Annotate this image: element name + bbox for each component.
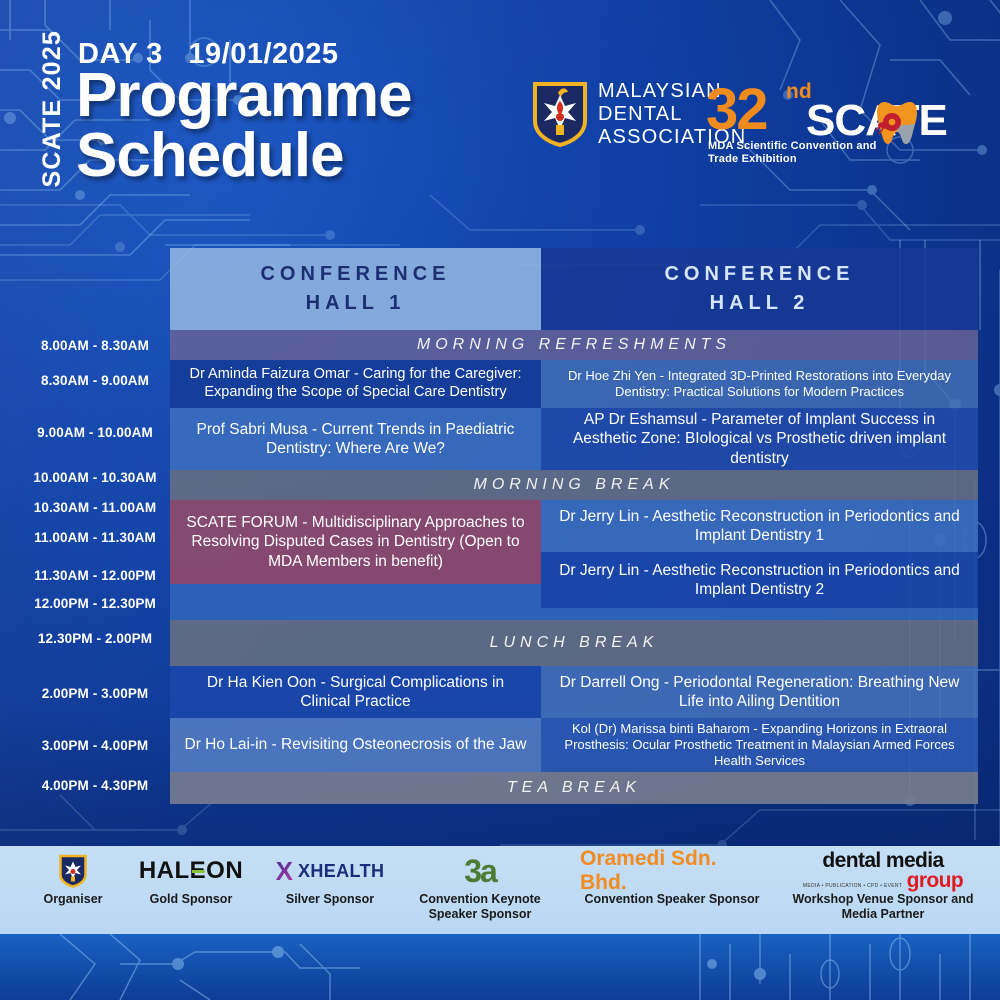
sponsor-silver: X XHEALTH Silver Sponsor [271, 846, 389, 934]
page-title: Programme Schedule [76, 66, 412, 186]
session-hall1-1400: Dr Ha Kien Oon - Surgical Complications … [170, 666, 541, 718]
dental-media-group-logo: dental media MEDIA • PUBLICATION • CPD •… [803, 854, 963, 888]
oramedi-logo: Oramedi Sdn. Bhd. [580, 854, 764, 888]
page-title-line2: Schedule [76, 126, 412, 186]
xhealth-x-icon: X [276, 856, 293, 887]
session-hall2-0830: Dr Hoe Zhi Yen - Integrated 3D-Printed R… [541, 360, 978, 408]
time-slot-10: 2.00PM - 3.00PM [20, 686, 170, 701]
xhealth-logo: X XHEALTH [276, 854, 385, 888]
session-hall1-0830: Dr Aminda Faizura Omar - Caring for the … [170, 360, 541, 408]
sponsor-gold: HALEON Gold Sponsor [132, 846, 250, 934]
time-slot-3: 9.00AM - 10.00AM [20, 425, 170, 440]
session-hall2-1030: Dr Jerry Lin - Aesthetic Reconstruction … [541, 500, 978, 552]
scate-subtitle-line2: Trade Exhibition [708, 153, 877, 166]
threea-logo: 3a [464, 854, 496, 888]
time-slot-1: 8.00AM - 8.30AM [20, 338, 170, 353]
time-slot-12: 4.00PM - 4.30PM [20, 778, 170, 793]
xhealth-wordmark: XHEALTH [298, 861, 384, 882]
session-hall2-1130: Dr Jerry Lin - Aesthetic Reconstruction … [541, 552, 978, 608]
tooth-hibiscus-icon [874, 96, 920, 148]
sponsor-caption-gold: Gold Sponsor [150, 892, 233, 907]
time-slot-6: 11.00AM - 11.30AM [20, 530, 170, 545]
page-title-line1: Programme [76, 66, 412, 126]
time-slot-8: 12.00PM - 12.30PM [20, 596, 170, 611]
bottom-decorative-strip [0, 934, 1000, 1000]
oramedi-wordmark: Oramedi Sdn. Bhd. [580, 847, 764, 895]
sponsor-convention-keynote: 3a Convention Keynote Speaker Sponsor [416, 846, 544, 934]
haleon-wordmark: HALEON [139, 857, 243, 885]
session-hall1-empty [170, 584, 541, 620]
column-header-conference-hall-1: CONFERENCE HALL 1 [170, 248, 541, 330]
band-morning-refreshments: MORNING REFRESHMENTS [170, 330, 978, 360]
scate-subtitle-line1: MDA Scientific Convention and [708, 140, 877, 153]
time-slot-2: 8.30AM - 9.00AM [20, 373, 170, 388]
session-hall2-empty [541, 608, 978, 620]
time-slot-5: 10.30AM - 11.00AM [20, 500, 170, 515]
sponsor-bar: Organiser HALEON Gold Sponsor X XHEALTH … [0, 846, 1000, 934]
session-hall2-0900: AP Dr Eshamsul - Parameter of Implant Su… [541, 408, 978, 470]
sponsor-workshop-venue: dental media MEDIA • PUBLICATION • CPD •… [790, 846, 976, 934]
scate-edition-number: 32 [706, 76, 767, 143]
band-lunch-break: LUNCH BREAK [170, 620, 978, 666]
hall1-header-line1: CONFERENCE [260, 260, 450, 289]
time-slot-7: 11.30AM - 12.00PM [20, 568, 170, 583]
session-hall1-1500: Dr Ho Lai-in - Revisiting Osteonecrosis … [170, 718, 541, 772]
programme-schedule-table: CONFERENCE HALL 1 CONFERENCE HALL 2 8.00… [0, 248, 1000, 808]
dmg-tagline: MEDIA • PUBLICATION • CPD • EVENT [803, 883, 902, 889]
sponsor-caption-keynote: Convention Keynote Speaker Sponsor [416, 892, 544, 922]
session-hall1-scate-forum: SCATE FORUM - Multidisciplinary Approach… [170, 500, 541, 584]
sponsor-caption-organiser: Organiser [43, 892, 102, 907]
scate-subtitle: MDA Scientific Convention and Trade Exhi… [708, 140, 877, 165]
session-hall1-0900: Prof Sabri Musa - Current Trends in Paed… [170, 408, 541, 470]
mda-shield-icon [532, 81, 588, 147]
haleon-logo: HALEON [139, 854, 243, 888]
hall1-header-line2: HALL 1 [260, 289, 450, 318]
column-header-conference-hall-2: CONFERENCE HALL 2 [541, 248, 978, 330]
threea-wordmark: 3a [464, 853, 496, 890]
sponsor-organiser: Organiser [14, 846, 132, 934]
side-label-scate-2025: SCATE 2025 [38, 30, 67, 187]
hall2-header-line2: HALL 2 [664, 289, 854, 318]
time-slot-11: 3.00PM - 4.00PM [20, 738, 170, 753]
sponsor-caption-silver: Silver Sponsor [286, 892, 374, 907]
session-hall2-1500: Kol (Dr) Marissa binti Baharom - Expandi… [541, 718, 978, 772]
hall2-header-line1: CONFERENCE [664, 260, 854, 289]
time-slot-9: 12.30PM - 2.00PM [20, 631, 170, 646]
band-morning-break: MORNING BREAK [170, 470, 978, 500]
sponsor-convention-speaker: Oramedi Sdn. Bhd. Convention Speaker Spo… [580, 846, 764, 934]
sponsor-caption-workshop: Workshop Venue Sponsor and Media Partner [790, 892, 976, 922]
sponsor-caption-speaker: Convention Speaker Sponsor [584, 892, 759, 907]
mda-shield-icon-footer [59, 854, 87, 888]
dmg-wordmark-line2: group [907, 869, 963, 892]
session-hall2-1400: Dr Darrell Ong - Periodontal Regeneratio… [541, 666, 978, 718]
header: SCATE 2025 DAY 3 19/01/2025 Programme Sc… [0, 0, 1000, 245]
scate-32nd-logo: 32 nd SCATE MDA Scientific Convention an… [706, 78, 968, 158]
time-slot-4: 10.00AM - 10.30AM [20, 470, 170, 485]
band-tea-break: TEA BREAK [170, 772, 978, 804]
